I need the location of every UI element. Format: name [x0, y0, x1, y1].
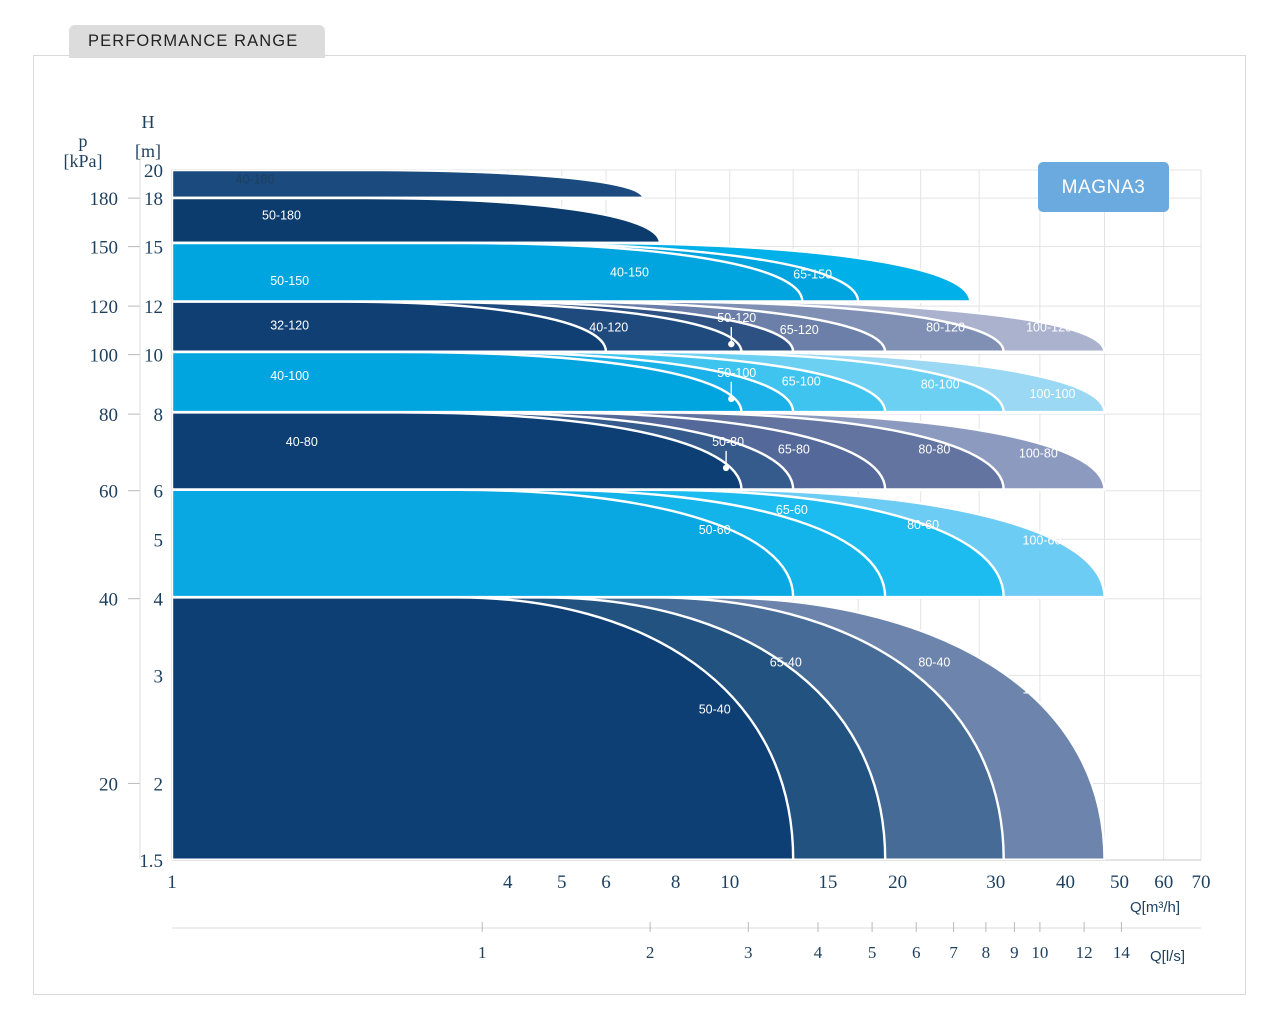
- h-tick-18: 18: [144, 189, 163, 210]
- q-m3h-tick-10: 10: [720, 872, 739, 893]
- band-row: [172, 412, 1105, 489]
- leader-dot-50-100: [728, 396, 734, 402]
- band-row: [172, 597, 1105, 860]
- p-tick-150: 150: [90, 238, 119, 259]
- curve-label-100-40: 100-40: [1023, 683, 1062, 697]
- h-tick-5: 5: [154, 530, 164, 551]
- p-axis-unit-line1: p: [79, 131, 88, 151]
- q-ls-tick-8: 8: [982, 943, 991, 962]
- curve-label-100-100: 100-100: [1030, 387, 1076, 401]
- curve-label-80-120: 80-120: [926, 321, 965, 335]
- q-m3h-axis-label: Q[m³/h]: [1130, 899, 1180, 916]
- q-m3h-tick-70: 70: [1192, 872, 1211, 893]
- magna3-badge-label: MAGNA3: [1062, 177, 1146, 198]
- curve-label-40-80: 40-80: [286, 435, 318, 449]
- h-tick-15: 15: [144, 238, 163, 259]
- h-tick-2: 2: [154, 774, 164, 795]
- curve-label-65-150: 65-150: [793, 268, 832, 282]
- band-row: [172, 490, 1105, 598]
- curve-label-50-40: 50-40: [699, 703, 731, 717]
- leader-dot-50-120: [728, 341, 734, 347]
- performance-band-50-180[interactable]: [172, 198, 660, 243]
- curve-label-65-60: 65-60: [776, 503, 808, 517]
- performance-range-page: PERFORMANCE RANGE 40-18050-18040-15050-1…: [0, 0, 1280, 1024]
- h-tick-12: 12: [144, 297, 163, 318]
- q-ls-tick-1: 1: [478, 943, 487, 962]
- curve-label-50-120: 50-120: [717, 311, 756, 325]
- q-ls-tick-6: 6: [912, 943, 921, 962]
- h-axis-unit-line1: H: [142, 112, 155, 132]
- q-m3h-tick-5: 5: [557, 872, 567, 893]
- performance-range-chart: 40-18050-18040-15050-15065-15032-12040-1…: [0, 0, 1280, 1024]
- curve-label-40-150: 40-150: [610, 266, 649, 280]
- q-ls-tick-3: 3: [744, 943, 753, 962]
- p-tick-40: 40: [99, 590, 118, 611]
- curve-label-65-40: 65-40: [770, 656, 802, 670]
- q-m3h-tick-1: 1: [167, 872, 177, 893]
- band-row: [172, 243, 970, 302]
- curve-label-50-180: 50-180: [262, 209, 301, 223]
- panel-title-tab: PERFORMANCE RANGE: [69, 25, 325, 58]
- curve-label-100-120: 100-120: [1026, 321, 1072, 335]
- q-m3h-tick-8: 8: [671, 872, 681, 893]
- curve-label-80-80: 80-80: [918, 443, 950, 457]
- curve-label-80-60: 80-60: [907, 518, 939, 532]
- q-ls-tick-10: 10: [1031, 943, 1048, 962]
- curve-label-100-60: 100-60: [1023, 534, 1062, 548]
- curve-label-80-100: 80-100: [921, 378, 960, 392]
- h-tick-10: 10: [144, 346, 163, 367]
- page-title: PERFORMANCE RANGE: [69, 32, 298, 51]
- q-ls-tick-9: 9: [1010, 943, 1019, 962]
- curve-label-65-100: 65-100: [782, 375, 821, 389]
- q-m3h-tick-6: 6: [601, 872, 611, 893]
- h-axis-unit-line2: [m]: [135, 141, 161, 161]
- curve-label-40-180: 40-180: [236, 173, 275, 187]
- curve-label-100-80: 100-80: [1019, 446, 1058, 460]
- p-tick-120: 120: [90, 297, 119, 318]
- q-ls-tick-2: 2: [646, 943, 655, 962]
- leader-dot-50-80: [723, 465, 729, 471]
- h-tick-3: 3: [154, 666, 164, 687]
- band-row: [172, 352, 1105, 412]
- p-tick-20: 20: [99, 774, 118, 795]
- curve-label-65-120: 65-120: [780, 323, 819, 337]
- p-tick-80: 80: [99, 405, 118, 426]
- p-tick-60: 60: [99, 482, 118, 503]
- h-tick-20: 20: [144, 161, 163, 182]
- p-axis-unit-line2: [kPa]: [64, 151, 103, 171]
- band-row: [172, 198, 660, 243]
- q-ls-tick-4: 4: [814, 943, 823, 962]
- curve-label-32-120: 32-120: [270, 318, 309, 332]
- q-ls-axis-label: Q[l/s]: [1150, 948, 1185, 965]
- h-tick-4: 4: [154, 590, 164, 611]
- magna3-badge[interactable]: MAGNA3: [1038, 162, 1169, 212]
- q-ls-tick-7: 7: [949, 943, 958, 962]
- p-tick-100: 100: [90, 346, 119, 367]
- curve-label-65-80: 65-80: [778, 443, 810, 457]
- q-ls-tick-5: 5: [868, 943, 877, 962]
- h-tick-6: 6: [154, 482, 164, 503]
- q-ls-tick-14: 14: [1113, 943, 1131, 962]
- q-m3h-tick-20: 20: [888, 872, 907, 893]
- q-m3h-tick-60: 60: [1154, 872, 1173, 893]
- curve-label-50-100: 50-100: [717, 366, 756, 380]
- p-tick-180: 180: [90, 189, 119, 210]
- q-m3h-tick-40: 40: [1056, 872, 1075, 893]
- curve-label-40-120: 40-120: [589, 321, 628, 335]
- curve-label-50-80: 50-80: [712, 435, 744, 449]
- curve-label-40-100: 40-100: [270, 369, 309, 383]
- curve-label-50-60: 50-60: [699, 523, 731, 537]
- h-tick-8: 8: [154, 405, 164, 426]
- q-m3h-tick-30: 30: [986, 872, 1005, 893]
- q-m3h-tick-50: 50: [1110, 872, 1129, 893]
- curve-label-80-40: 80-40: [918, 656, 950, 670]
- curve-label-50-150: 50-150: [270, 274, 309, 288]
- q-m3h-tick-4: 4: [503, 872, 513, 893]
- q-m3h-tick-15: 15: [818, 872, 837, 893]
- q-ls-tick-12: 12: [1076, 943, 1093, 962]
- h-tick-1.5: 1.5: [139, 851, 163, 872]
